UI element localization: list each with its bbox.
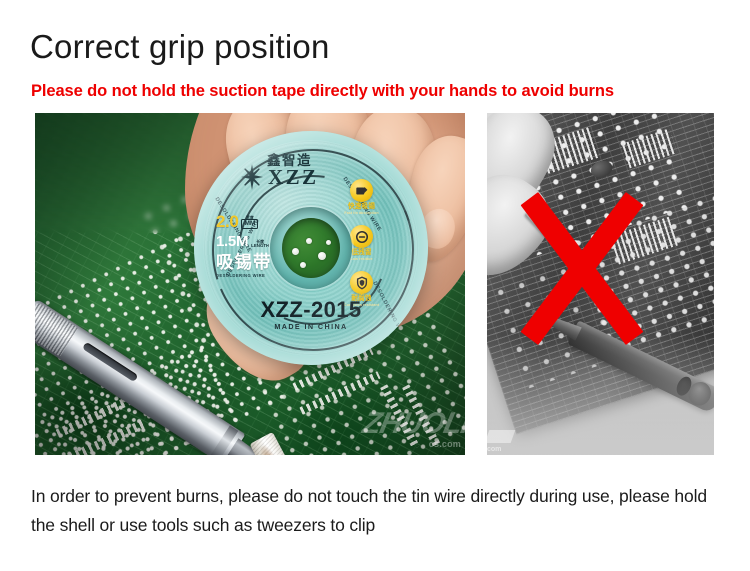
spool-rim (194, 131, 428, 365)
footer-caption: In order to prevent burns, please do not… (31, 482, 727, 540)
red-x-marker (487, 113, 714, 455)
instruction-card: Correct grip position Please do not hold… (0, 0, 750, 571)
correct-grip-photo: DESOLDERING WIRE DESOLDERING WIRE DESOLD… (35, 113, 465, 455)
watermark-mark (487, 430, 515, 443)
warning-text: Please do not hold the suction tape dire… (31, 82, 614, 101)
watermark-domain: com (487, 446, 501, 453)
solder-wick-spool: DESOLDERING WIRE DESOLDERING WIRE DESOLD… (194, 131, 428, 365)
incorrect-grip-photo: com (487, 113, 714, 455)
watermark-domain: cs.com (429, 439, 461, 449)
page-title: Correct grip position (30, 28, 330, 66)
